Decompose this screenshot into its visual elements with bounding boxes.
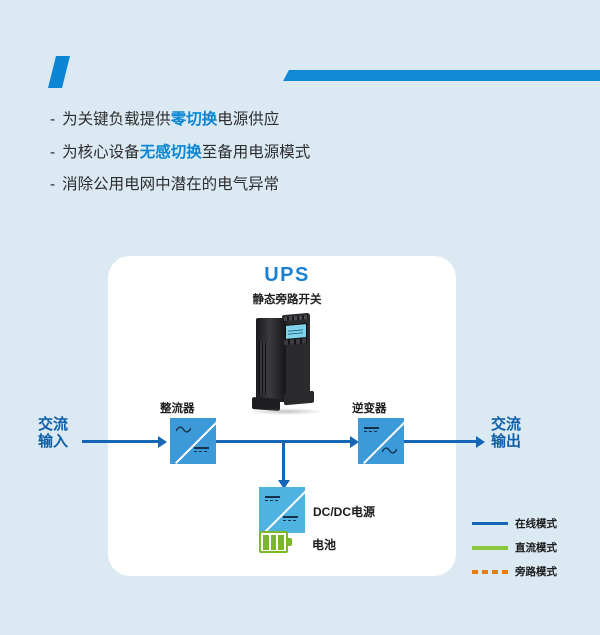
legend: 在线模式 直流模式 旁路模式 bbox=[472, 516, 592, 588]
dcdc-label: DC/DC电源 bbox=[313, 503, 375, 520]
wire-output bbox=[404, 440, 478, 443]
wire-battery-branch bbox=[282, 440, 285, 482]
list-item: - 为核心设备 无感切换 至备用电源模式 bbox=[50, 145, 450, 161]
legend-label: 在线模式 bbox=[515, 516, 557, 531]
dcdc-block bbox=[259, 487, 305, 533]
bullet-text-pre: 为关键负载提供 bbox=[62, 112, 171, 128]
legend-item-online: 在线模式 bbox=[472, 516, 592, 531]
legend-swatch-bypass-icon bbox=[472, 570, 508, 574]
inverter-label: 逆变器 bbox=[352, 400, 387, 416]
bullet-text-pre: 为核心设备 bbox=[62, 145, 140, 161]
bullet-text-pre: 消除公用电网中潜在的电气异常 bbox=[62, 177, 279, 193]
ups-subtitle: 静态旁路开关 bbox=[212, 291, 362, 307]
ups-shadow bbox=[248, 408, 324, 415]
ups-title: UPS bbox=[232, 264, 342, 287]
bullet-text-highlight: 零切换 bbox=[171, 112, 218, 128]
ac-output-label: 交流 输出 bbox=[491, 417, 521, 451]
ac-input-label: 交流 输入 bbox=[38, 417, 68, 451]
ac-output-line2: 输出 bbox=[491, 434, 521, 451]
legend-item-dc: 直流模式 bbox=[472, 540, 592, 555]
bullet-dash: - bbox=[50, 145, 55, 161]
ac-input-line1: 交流 bbox=[38, 417, 68, 434]
feature-bullet-list: - 为关键负载提供 零切换 电源供应 - 为核心设备 无感切换 至备用电源模式 … bbox=[50, 112, 450, 210]
bullet-dash: - bbox=[50, 112, 55, 128]
wire-input bbox=[82, 440, 160, 443]
slash-accent-icon bbox=[48, 56, 70, 88]
battery-icon bbox=[259, 531, 293, 553]
legend-swatch-online-icon bbox=[472, 522, 508, 525]
battery-cell bbox=[263, 535, 269, 550]
inverter-block bbox=[358, 418, 404, 464]
legend-item-bypass: 旁路模式 bbox=[472, 564, 592, 579]
arrow-output-icon bbox=[476, 436, 485, 448]
dcdc-divider bbox=[259, 487, 305, 533]
bullet-text-post: 至备用电源模式 bbox=[202, 145, 311, 161]
bullet-dash: - bbox=[50, 177, 55, 193]
legend-label: 直流模式 bbox=[515, 540, 557, 555]
arrow-input-icon bbox=[158, 436, 167, 448]
battery-cells bbox=[263, 535, 284, 550]
bullet-text-highlight: 无感切换 bbox=[140, 145, 202, 161]
battery-terminal bbox=[288, 538, 292, 546]
bullet-text-post: 电源供应 bbox=[217, 112, 279, 128]
list-item: - 消除公用电网中潜在的电气异常 bbox=[50, 177, 450, 193]
battery-cell bbox=[278, 535, 284, 550]
rectifier-divider bbox=[170, 418, 216, 464]
rectifier-label: 整流器 bbox=[160, 400, 195, 416]
legend-swatch-dc-icon bbox=[472, 546, 508, 550]
header-bar-accent bbox=[296, 70, 600, 81]
list-item: - 为关键负载提供 零切换 电源供应 bbox=[50, 112, 450, 128]
ups-vent-grille bbox=[259, 342, 268, 394]
header-accent-band bbox=[0, 0, 600, 100]
battery-label: 电池 bbox=[312, 536, 336, 553]
ups-stand-right bbox=[284, 391, 314, 406]
legend-label: 旁路模式 bbox=[515, 564, 557, 579]
ac-input-line2: 输入 bbox=[38, 434, 68, 451]
inverter-divider bbox=[358, 418, 404, 464]
ac-output-line1: 交流 bbox=[491, 417, 521, 434]
rectifier-block bbox=[170, 418, 216, 464]
ups-device-image bbox=[244, 312, 328, 414]
battery-cell bbox=[271, 535, 277, 550]
